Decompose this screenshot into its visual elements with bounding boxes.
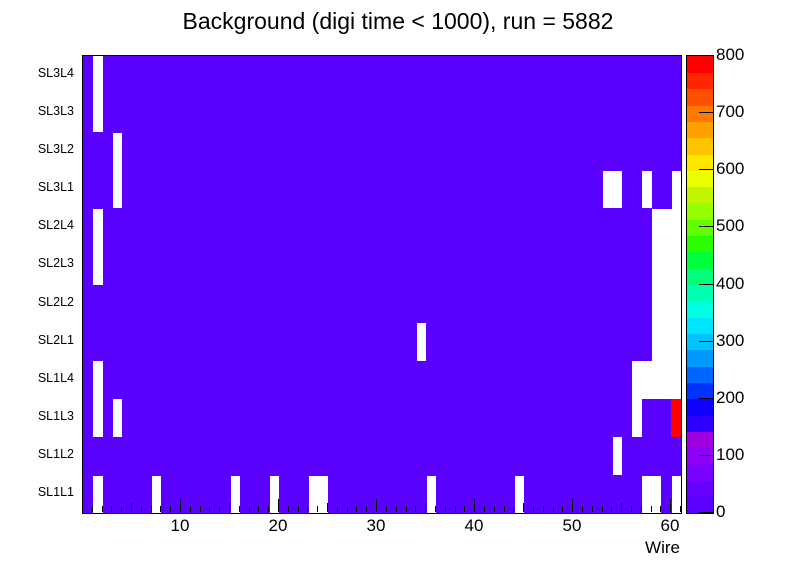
x-axis-minor-tick: [553, 506, 554, 512]
heatmap-cell: [83, 170, 113, 209]
heatmap-row: [83, 399, 681, 438]
heatmap-cell: [161, 475, 230, 513]
color-scale-tick: [699, 455, 713, 456]
y-axis-label: SL1L4: [38, 371, 74, 385]
color-scale-tick: [699, 112, 713, 113]
x-axis-minor-tick: [356, 506, 357, 512]
color-scale-band: [687, 480, 713, 497]
x-axis-minor-tick: [229, 503, 230, 512]
color-scale-band: [687, 170, 713, 187]
heatmap-cell: [83, 94, 93, 133]
y-axis-label: SL3L1: [38, 180, 74, 194]
heatmap-row: [83, 208, 681, 247]
color-scale-tick: [699, 512, 713, 513]
heatmap-row: [83, 323, 681, 362]
x-axis-minor-tick: [209, 506, 210, 512]
x-axis-minor-tick: [543, 506, 544, 512]
color-scale-band: [687, 431, 713, 448]
heatmap-cell: [83, 399, 93, 438]
color-scale-band: [687, 105, 713, 122]
x-axis-minor-tick: [435, 506, 436, 512]
x-axis-minor-tick: [102, 506, 103, 512]
x-axis-minor-tick: [396, 506, 397, 512]
x-axis-title: Wire: [600, 538, 680, 558]
heatmap-cell: [524, 475, 642, 513]
heatmap-cell: [122, 399, 632, 438]
color-scale-band: [687, 187, 713, 204]
color-scale-tick-label: 200: [716, 388, 744, 408]
heatmap-cell: [103, 208, 652, 247]
heatmap-cell: [83, 132, 113, 171]
x-axis-minor-tick: [307, 506, 308, 512]
color-scale-band: [687, 236, 713, 253]
color-scale-band: [687, 317, 713, 334]
y-axis-label: SL3L2: [38, 142, 74, 156]
x-axis-minor-tick: [258, 506, 259, 512]
x-axis-minor-tick: [337, 506, 338, 512]
x-axis-minor-tick: [494, 506, 495, 512]
x-axis-label: 30: [356, 516, 396, 536]
color-scale-band: [687, 89, 713, 106]
color-scale-tick: [699, 398, 713, 399]
x-axis-minor-tick: [523, 503, 524, 512]
y-axis-label: SL1L1: [38, 485, 74, 499]
color-scale-tick-label: 100: [716, 445, 744, 465]
y-axis-label: SL2L1: [38, 333, 74, 347]
x-axis-minor-tick: [660, 506, 661, 512]
heatmap-cell: [83, 437, 613, 476]
x-axis-minor-tick: [386, 506, 387, 512]
x-axis-minor-tick: [680, 506, 681, 512]
x-axis-minor-tick: [327, 503, 328, 512]
color-scale-band: [687, 56, 713, 73]
color-scale-band: [687, 497, 713, 513]
x-axis-minor-tick: [347, 506, 348, 512]
heatmap-cell: [279, 475, 309, 513]
x-axis-minor-tick: [200, 506, 201, 512]
heatmap-cell: [83, 285, 652, 324]
heatmap-cell-hot: [671, 399, 681, 438]
heatmap-cell: [83, 56, 93, 95]
heatmap-row: [83, 132, 681, 171]
x-axis-minor-tick: [602, 506, 603, 512]
heatmap-row: [83, 170, 681, 209]
color-scale-band: [687, 72, 713, 89]
x-axis-minor-tick: [415, 506, 416, 512]
heatmap-row: [83, 285, 681, 324]
color-scale-tick: [699, 55, 713, 56]
x-axis-minor-tick: [131, 503, 132, 512]
x-axis-minor-tick: [406, 506, 407, 512]
x-axis-minor-tick: [239, 506, 240, 512]
color-scale-band: [687, 464, 713, 481]
x-axis-minor-tick: [268, 506, 269, 512]
heatmap-cell: [652, 170, 672, 209]
x-axis-minor-tick: [445, 506, 446, 512]
x-axis-minor-tick: [219, 506, 220, 512]
y-axis-label: SL2L4: [38, 218, 74, 232]
x-axis-label: 20: [258, 516, 298, 536]
heatmap-cell: [122, 132, 681, 171]
x-axis-minor-tick: [121, 506, 122, 512]
x-axis-minor-tick: [621, 503, 622, 512]
color-scale-band: [687, 399, 713, 416]
heatmap-row: [83, 361, 681, 400]
x-axis-minor-tick: [141, 506, 142, 512]
heatmap-cell: [83, 246, 93, 285]
x-axis-minor-tick: [366, 506, 367, 512]
x-axis-minor-tick: [298, 506, 299, 512]
color-scale-band: [687, 448, 713, 465]
x-axis-major-tick: [278, 499, 279, 512]
x-axis-minor-tick: [170, 506, 171, 512]
heatmap-cell: [240, 475, 270, 513]
color-scale-tick-label: 0: [716, 502, 725, 522]
color-scale-tick-label: 800: [716, 45, 744, 65]
color-scale-band: [687, 268, 713, 285]
color-scale-band: [687, 382, 713, 399]
x-axis-major-tick: [572, 499, 573, 512]
heatmap-cell: [103, 94, 681, 133]
x-axis-minor-tick: [92, 506, 93, 512]
heatmap-cell: [103, 361, 633, 400]
heatmap-cell: [122, 170, 603, 209]
heatmap-row: [83, 246, 681, 285]
x-axis-label: 10: [160, 516, 200, 536]
y-axis-label: SL2L3: [38, 256, 74, 270]
y-axis-label: SL1L2: [38, 447, 74, 461]
x-axis-minor-tick: [533, 506, 534, 512]
x-axis-minor-tick: [464, 506, 465, 512]
color-scale-band: [687, 350, 713, 367]
x-axis-minor-tick: [651, 506, 652, 512]
color-scale-tick: [699, 284, 713, 285]
color-scale-band: [687, 415, 713, 432]
x-axis-minor-tick: [562, 506, 563, 512]
x-axis-minor-tick: [484, 506, 485, 512]
color-scale-band: [687, 203, 713, 220]
x-axis-minor-tick: [249, 506, 250, 512]
heatmap-cell: [642, 399, 672, 438]
color-scale-band: [687, 366, 713, 383]
x-axis-minor-tick: [288, 506, 289, 512]
x-axis-minor-tick: [190, 506, 191, 512]
heatmap-row: [83, 94, 681, 133]
x-axis-minor-tick: [151, 506, 152, 512]
y-axis-label: SL3L3: [38, 104, 74, 118]
x-axis-label: 40: [454, 516, 494, 536]
x-axis-label: 50: [552, 516, 592, 536]
heatmap-cell: [328, 475, 427, 513]
heatmap-cell: [622, 437, 681, 476]
x-axis-major-tick: [474, 499, 475, 512]
x-axis-minor-tick: [641, 506, 642, 512]
x-axis-minor-tick: [317, 506, 318, 512]
heatmap-row: [83, 437, 681, 476]
color-scale-tick-label: 500: [716, 216, 744, 236]
heatmap-cells: [83, 56, 681, 513]
color-scale-tick: [699, 169, 713, 170]
heatmap-cell: [83, 361, 93, 400]
color-scale-band: [687, 219, 713, 236]
color-scale-band: [687, 301, 713, 318]
heatmap-row: [83, 56, 681, 95]
color-scale-band: [687, 285, 713, 302]
plot-canvas: Background (digi time < 1000), run = 588…: [0, 0, 796, 572]
color-scale-tick: [699, 226, 713, 227]
y-axis-label: SL3L4: [38, 66, 74, 80]
x-axis-minor-tick: [425, 503, 426, 512]
heatmap-cell: [103, 56, 681, 95]
heatmap-cell: [426, 323, 652, 362]
color-scale-tick-label: 700: [716, 102, 744, 122]
y-axis-label: SL1L3: [38, 409, 74, 423]
plot-title: Background (digi time < 1000), run = 588…: [0, 8, 796, 35]
color-scale-band: [687, 252, 713, 269]
x-axis-minor-tick: [631, 506, 632, 512]
color-scale-band: [687, 121, 713, 138]
color-scale-tick-label: 600: [716, 159, 744, 179]
x-axis-minor-tick: [582, 506, 583, 512]
heatmap-cell: [83, 323, 417, 362]
x-axis-major-tick: [670, 499, 671, 512]
heatmap-cell: [83, 208, 93, 247]
color-scale-band: [687, 138, 713, 155]
x-axis-minor-tick: [592, 506, 593, 512]
heatmap-cell: [436, 475, 515, 513]
x-axis-minor-tick: [111, 506, 112, 512]
y-axis-label: SL2L2: [38, 295, 74, 309]
x-axis-minor-tick: [455, 506, 456, 512]
x-axis-minor-tick: [611, 506, 612, 512]
x-axis-minor-tick: [513, 506, 514, 512]
x-axis-minor-tick: [504, 506, 505, 512]
x-axis-major-tick: [376, 499, 377, 512]
color-scale-tick: [699, 341, 713, 342]
heatmap-cell: [622, 170, 642, 209]
color-scale-tick-label: 400: [716, 274, 744, 294]
heatmap-plot-area[interactable]: [82, 55, 682, 514]
x-axis-minor-tick: [160, 506, 161, 512]
heatmap-cell: [103, 399, 113, 438]
x-axis-label: 60: [650, 516, 690, 536]
x-axis-major-tick: [180, 499, 181, 512]
color-scale-tick-label: 300: [716, 331, 744, 351]
heatmap-cell: [103, 246, 652, 285]
